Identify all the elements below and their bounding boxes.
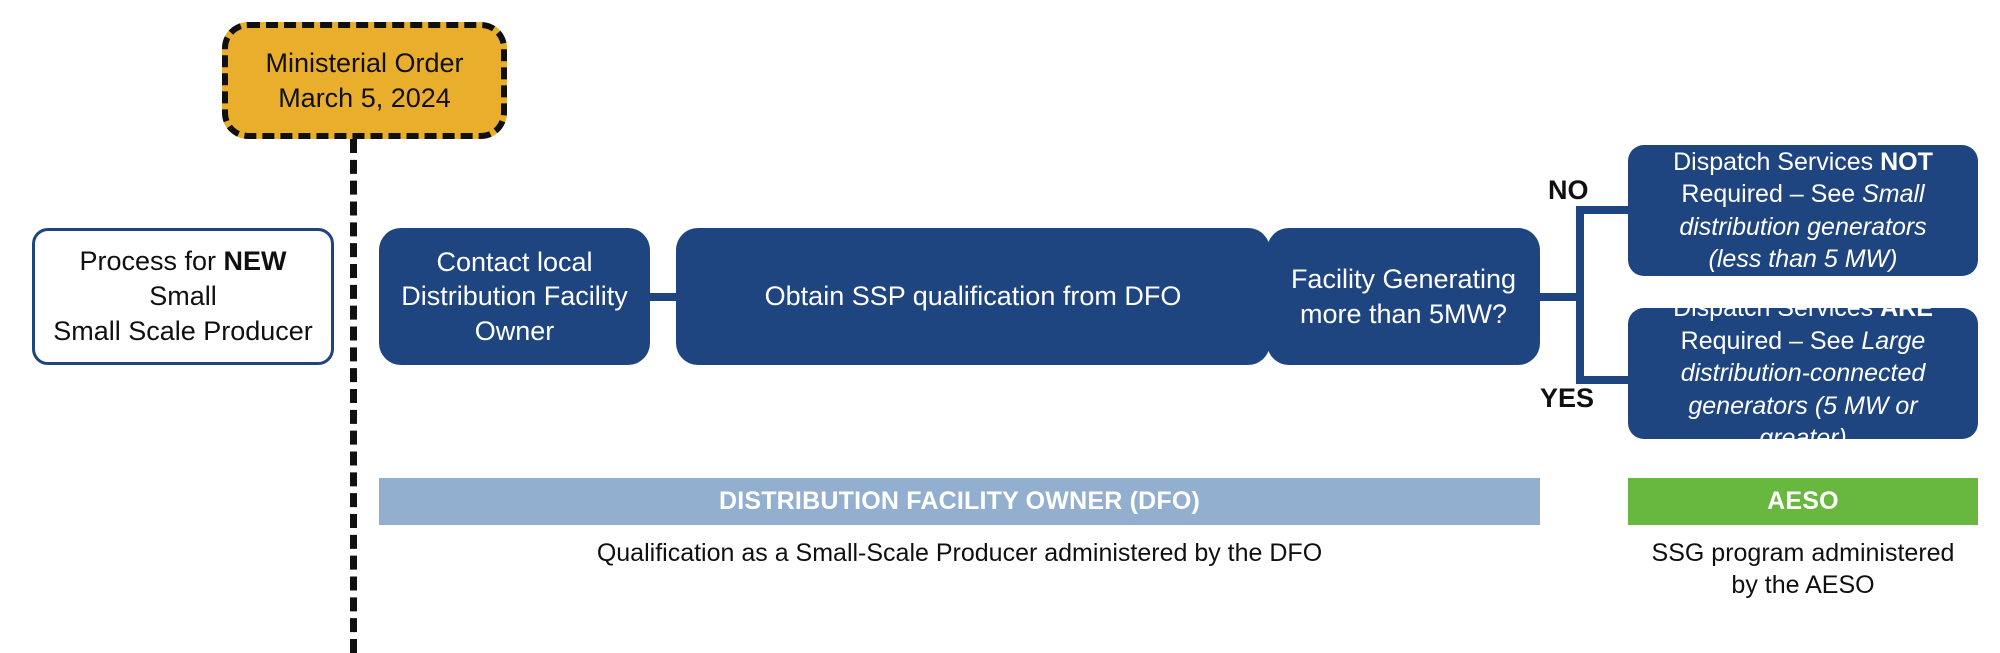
caption-aeso-line2: by the AESO [1731,571,1874,599]
branch-label-no: NO [1548,175,1589,206]
outcome-no-bold: NOT [1880,148,1933,176]
connector-branch-no [1576,206,1632,214]
ministerial-order-box: Ministerial Order March 5, 2024 [222,22,507,139]
decision-line2: more than 5MW? [1300,299,1507,329]
outcome-no-italic3: (less than 5 MW) [1709,245,1898,273]
process-step-1-text: Contact local Distribution Facility Owne… [401,245,628,347]
outcome-box-dispatch-are-required: Dispatch Services ARE Required – See Lar… [1628,308,1978,439]
outcome-no-seg2: Required – See [1681,180,1862,208]
process-step-2-label: Obtain SSP qualification from DFO [765,279,1182,313]
connector-branch-vertical [1576,206,1584,384]
process-step-1-line2: Distribution Facility [401,281,628,311]
outcome-yes-italic3: generators (5 MW or greater) [1688,392,1917,453]
dashed-divider-line [350,139,357,653]
outcome-no-seg1: Dispatch Services [1673,148,1880,176]
caption-dfo: Qualification as a Small-Scale Producer … [379,537,1540,569]
outcome-no-italic1: Small [1862,180,1925,208]
process-step-1-line1: Contact local [436,247,592,277]
outcome-no-text: Dispatch Services NOT Required – See Sma… [1673,146,1933,276]
start-box-text: Process for NEW Small Small Scale Produc… [45,244,321,349]
banner-aeso-title: AESO [1767,487,1839,516]
outcome-yes-text: Dispatch Services ARE Required – See Lar… [1642,292,1964,455]
outcome-yes-seg2: Required – See [1681,327,1862,355]
start-box-line2: Small Scale Producer [53,316,313,346]
outcome-yes-italic2: distribution-connected [1681,359,1926,387]
process-step-obtain-ssp-qualification: Obtain SSP qualification from DFO [676,228,1270,365]
outcome-yes-seg1: Dispatch Services [1673,294,1880,322]
caption-aeso-line1: SSG program administered [1652,539,1955,567]
start-box-text-after: Small [149,281,217,311]
outcome-no-italic2: distribution generators [1679,213,1926,241]
process-step-contact-dfo: Contact local Distribution Facility Owne… [379,228,650,365]
outcome-yes-bold: ARE [1880,294,1933,322]
banner-aeso: AESO [1628,478,1978,525]
ministerial-order-line1: Ministerial Order [265,48,463,78]
decision-facility-generating-5mw: Facility Generating more than 5MW? [1267,228,1540,365]
start-box-new-small-scale-producer: Process for NEW Small Small Scale Produc… [32,228,334,365]
banner-distribution-facility-owner: DISTRIBUTION FACILITY OWNER (DFO) [379,478,1540,525]
start-box-text-before: Process for [79,246,223,276]
decision-text: Facility Generating more than 5MW? [1291,262,1516,330]
banner-dfo-title: DISTRIBUTION FACILITY OWNER (DFO) [719,487,1200,516]
flowchart-canvas: Ministerial Order March 5, 2024 Process … [0,0,2000,653]
caption-aeso: SSG program administered by the AESO [1618,537,1988,601]
outcome-yes-italic1: Large [1861,327,1925,355]
branch-label-yes: YES [1540,383,1594,414]
decision-line1: Facility Generating [1291,264,1516,294]
process-step-1-line3: Owner [475,316,555,346]
ministerial-order-text: Ministerial Order March 5, 2024 [265,46,463,114]
start-box-bold-new: NEW [224,246,287,276]
ministerial-order-line2: March 5, 2024 [278,83,451,113]
outcome-box-dispatch-not-required: Dispatch Services NOT Required – See Sma… [1628,145,1978,276]
